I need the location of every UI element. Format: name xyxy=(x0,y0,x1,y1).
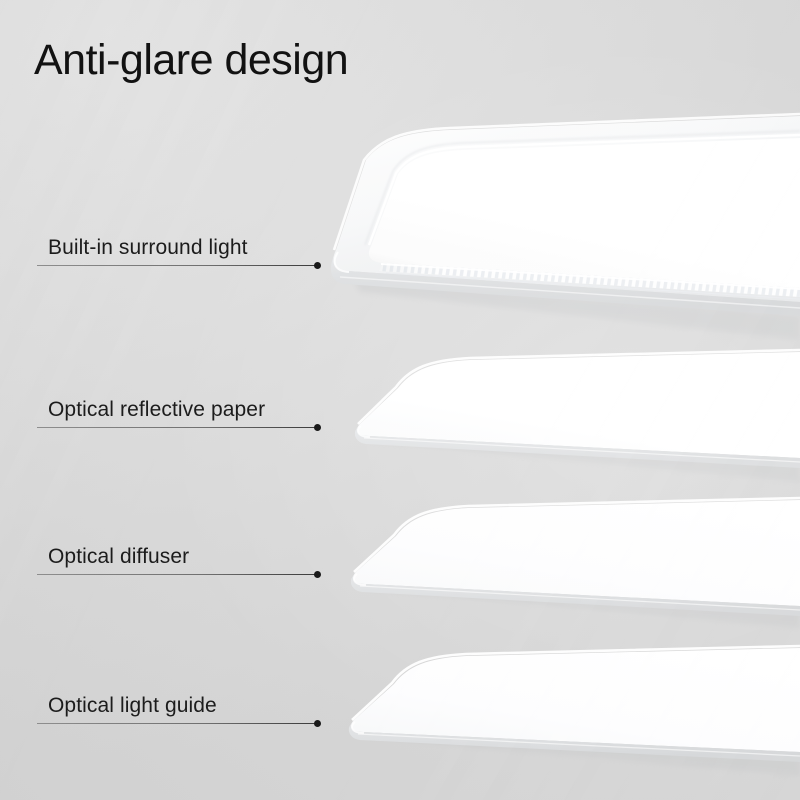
callout-leader-line xyxy=(37,265,318,266)
product-feature-slide: Anti-glare design Built-in surround ligh… xyxy=(0,0,800,800)
callout-label: Built-in surround light xyxy=(48,236,248,260)
callout-optical-light-guide[interactable]: Optical light guide xyxy=(0,672,330,734)
callout-optical-diffuser[interactable]: Optical diffuser xyxy=(0,523,330,585)
callout-leader-line xyxy=(37,723,318,724)
callout-end-dot xyxy=(314,720,321,727)
callout-built-in-surround-light[interactable]: Built-in surround light xyxy=(0,214,330,276)
callout-label: Optical light guide xyxy=(48,694,217,718)
callout-leader-line xyxy=(37,427,318,428)
callout-end-dot xyxy=(314,424,321,431)
callout-leader-line xyxy=(37,574,318,575)
page-title: Anti-glare design xyxy=(34,36,348,85)
callout-optical-reflective-paper[interactable]: Optical reflective paper xyxy=(0,376,330,438)
callout-end-dot xyxy=(314,262,321,269)
callout-end-dot xyxy=(314,571,321,578)
callout-label: Optical diffuser xyxy=(48,545,189,569)
callout-label: Optical reflective paper xyxy=(48,398,265,422)
